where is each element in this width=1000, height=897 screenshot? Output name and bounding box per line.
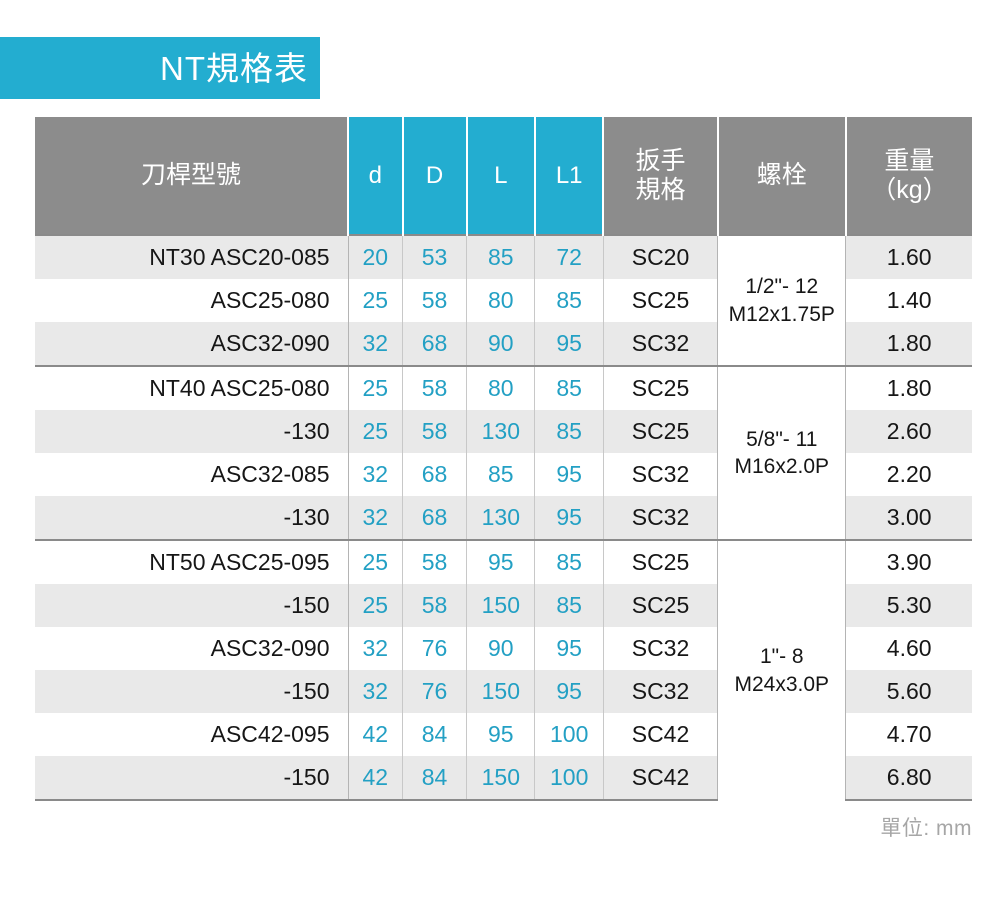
unit-note: 單位: mm [880, 812, 972, 842]
cell-weight: 1.40 [846, 279, 972, 322]
column-header-weight: 重量 （kg） [846, 117, 972, 235]
cell-L1: 95 [535, 496, 603, 540]
cell-model: NT30 ASC20-085 [35, 235, 348, 279]
column-header-wrench: 扳手 規格 [603, 117, 717, 235]
cell-L1: 85 [535, 540, 603, 584]
cell-wrench: SC25 [603, 410, 717, 453]
cell-wrench: SC25 [603, 366, 717, 410]
cell-D: 76 [403, 627, 467, 670]
bolt-line-1: 1"- 8 [718, 643, 845, 670]
column-header-weight-line1: 重量 [847, 147, 972, 176]
cell-weight: 6.80 [846, 756, 972, 800]
cell-weight: 2.20 [846, 453, 972, 496]
cell-weight: 1.60 [846, 235, 972, 279]
cell-d: 25 [348, 366, 402, 410]
column-header-d: d [348, 117, 402, 235]
cell-model: -150 [35, 670, 348, 713]
column-header-wrench-line1: 扳手 [604, 147, 716, 176]
cell-model: -130 [35, 410, 348, 453]
cell-weight: 3.00 [846, 496, 972, 540]
column-header-model: 刀桿型號 [35, 117, 348, 235]
cell-L: 90 [467, 322, 535, 366]
cell-L: 130 [467, 496, 535, 540]
cell-D: 68 [403, 322, 467, 366]
column-header-L: L [467, 117, 535, 235]
cell-D: 53 [403, 235, 467, 279]
cell-weight: 5.60 [846, 670, 972, 713]
bolt-line-1: 1/2"- 12 [718, 273, 845, 300]
cell-bolt: 1"- 8M24x3.0P [718, 540, 846, 800]
cell-L: 150 [467, 584, 535, 627]
cell-d: 32 [348, 453, 402, 496]
cell-D: 58 [403, 584, 467, 627]
cell-d: 42 [348, 713, 402, 756]
cell-d: 32 [348, 627, 402, 670]
cell-weight: 4.60 [846, 627, 972, 670]
header-row: 刀桿型號 d D L L1 扳手 規格 螺栓 重量 （kg） [35, 117, 972, 235]
column-header-L1: L1 [535, 117, 603, 235]
cell-bolt: 1/2"- 12M12x1.75P [718, 235, 846, 366]
cell-D: 84 [403, 713, 467, 756]
cell-L1: 85 [535, 584, 603, 627]
cell-L: 95 [467, 540, 535, 584]
cell-model: ASC32-090 [35, 322, 348, 366]
cell-weight: 4.70 [846, 713, 972, 756]
cell-model: -150 [35, 584, 348, 627]
column-header-wrench-line2: 規格 [604, 176, 716, 205]
cell-model: -130 [35, 496, 348, 540]
cell-weight: 2.60 [846, 410, 972, 453]
cell-weight: 3.90 [846, 540, 972, 584]
cell-L1: 95 [535, 453, 603, 496]
cell-model: ASC32-090 [35, 627, 348, 670]
bolt-line-1: 5/8"- 11 [718, 426, 845, 453]
cell-weight: 1.80 [846, 366, 972, 410]
cell-L1: 100 [535, 756, 603, 800]
cell-L1: 85 [535, 366, 603, 410]
cell-model: ASC25-080 [35, 279, 348, 322]
bolt-line-2: M12x1.75P [718, 301, 845, 328]
cell-L: 90 [467, 627, 535, 670]
cell-d: 20 [348, 235, 402, 279]
cell-d: 25 [348, 410, 402, 453]
cell-wrench: SC42 [603, 713, 717, 756]
cell-model: ASC42-095 [35, 713, 348, 756]
cell-wrench: SC32 [603, 496, 717, 540]
cell-L: 85 [467, 453, 535, 496]
cell-wrench: SC20 [603, 235, 717, 279]
cell-d: 25 [348, 584, 402, 627]
cell-d: 32 [348, 322, 402, 366]
specification-table: 刀桿型號 d D L L1 扳手 規格 螺栓 重量 （kg） NT30 ASC2… [35, 117, 972, 801]
cell-wrench: SC25 [603, 584, 717, 627]
cell-D: 68 [403, 496, 467, 540]
cell-L1: 100 [535, 713, 603, 756]
table-row: NT40 ASC25-08025588085SC255/8"- 11M16x2.… [35, 366, 972, 410]
cell-L: 80 [467, 279, 535, 322]
cell-D: 58 [403, 410, 467, 453]
cell-D: 58 [403, 540, 467, 584]
table-body: NT30 ASC20-08520538572SC201/2"- 12M12x1.… [35, 235, 972, 800]
cell-L1: 85 [535, 279, 603, 322]
cell-L1: 72 [535, 235, 603, 279]
cell-d: 25 [348, 279, 402, 322]
bolt-line-2: M16x2.0P [718, 453, 845, 480]
cell-weight: 1.80 [846, 322, 972, 366]
cell-L1: 85 [535, 410, 603, 453]
cell-wrench: SC42 [603, 756, 717, 800]
table-header: 刀桿型號 d D L L1 扳手 規格 螺栓 重量 （kg） [35, 117, 972, 235]
cell-d: 42 [348, 756, 402, 800]
cell-weight: 5.30 [846, 584, 972, 627]
cell-wrench: SC25 [603, 279, 717, 322]
cell-L1: 95 [535, 670, 603, 713]
bolt-line-2: M24x3.0P [718, 671, 845, 698]
cell-D: 58 [403, 366, 467, 410]
cell-wrench: SC32 [603, 453, 717, 496]
cell-wrench: SC25 [603, 540, 717, 584]
column-header-weight-line2: （kg） [847, 176, 972, 205]
cell-model: NT50 ASC25-095 [35, 540, 348, 584]
cell-L: 85 [467, 235, 535, 279]
table-row: NT30 ASC20-08520538572SC201/2"- 12M12x1.… [35, 235, 972, 279]
cell-wrench: SC32 [603, 322, 717, 366]
cell-bolt: 5/8"- 11M16x2.0P [718, 366, 846, 540]
cell-L: 95 [467, 713, 535, 756]
cell-wrench: SC32 [603, 670, 717, 713]
cell-L1: 95 [535, 322, 603, 366]
cell-d: 32 [348, 496, 402, 540]
cell-L: 150 [467, 756, 535, 800]
cell-L: 150 [467, 670, 535, 713]
cell-D: 58 [403, 279, 467, 322]
cell-L: 80 [467, 366, 535, 410]
title-banner: NT規格表 [0, 37, 320, 99]
cell-L1: 95 [535, 627, 603, 670]
cell-D: 76 [403, 670, 467, 713]
cell-model: ASC32-085 [35, 453, 348, 496]
cell-wrench: SC32 [603, 627, 717, 670]
cell-model: NT40 ASC25-080 [35, 366, 348, 410]
column-header-bolt: 螺栓 [718, 117, 846, 235]
column-header-D: D [403, 117, 467, 235]
page-title: NT規格表 [160, 52, 308, 85]
cell-D: 84 [403, 756, 467, 800]
cell-d: 32 [348, 670, 402, 713]
cell-D: 68 [403, 453, 467, 496]
cell-L: 130 [467, 410, 535, 453]
cell-d: 25 [348, 540, 402, 584]
table-row: NT50 ASC25-09525589585SC251"- 8M24x3.0P3… [35, 540, 972, 584]
cell-model: -150 [35, 756, 348, 800]
